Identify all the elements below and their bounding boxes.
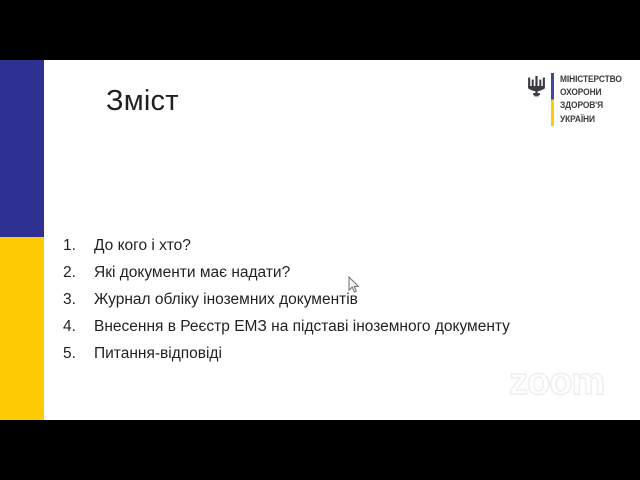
agenda-item: 5. Питання-відповіді xyxy=(63,345,510,372)
letterbox-top xyxy=(0,0,640,60)
agenda-item-number: 4. xyxy=(63,318,94,336)
agenda-item-number: 1. xyxy=(63,237,94,255)
slide-title: Зміст xyxy=(106,86,179,118)
accent-band-yellow xyxy=(0,237,44,420)
logo-line: ЗДОРОВ'Я xyxy=(560,99,622,112)
agenda-item-label: До кого і хто? xyxy=(94,237,191,255)
agenda-item-label: Внесення в Реєстр ЕМЗ на підставі інозем… xyxy=(94,318,510,336)
logo-line: МІНІСТЕРСТВО xyxy=(560,73,622,86)
letterbox-bottom xyxy=(0,420,640,480)
agenda-item-label: Журнал обліку іноземних документів xyxy=(94,291,358,309)
logo-divider xyxy=(551,73,554,126)
logo-line: ОХОРОНИ xyxy=(560,86,622,99)
logo-text: МІНІСТЕРСТВО ОХОРОНИ ЗДОРОВ'Я УКРАЇНИ xyxy=(560,73,626,126)
agenda-item: 2. Які документи має надати? xyxy=(63,264,510,291)
logo-line: УКРАЇНИ xyxy=(560,113,622,126)
zoom-watermark: zoom xyxy=(509,363,604,401)
agenda-item-number: 2. xyxy=(63,264,94,282)
presentation-slide: Зміст МІНІСТЕРСТВО ОХОРОНИ ЗДОРОВ'Я xyxy=(0,60,640,420)
agenda-item: 1. До кого і хто? xyxy=(63,237,510,264)
agenda-item-label: Які документи має надати? xyxy=(94,264,290,282)
agenda-item-number: 5. xyxy=(63,345,94,363)
tryzub-icon xyxy=(527,75,546,97)
agenda-list: 1. До кого і хто? 2. Які документи має н… xyxy=(63,237,510,372)
agenda-item: 4. Внесення в Реєстр ЕМЗ на підставі іно… xyxy=(63,318,510,345)
video-viewport: Зміст МІНІСТЕРСТВО ОХОРОНИ ЗДОРОВ'Я xyxy=(0,0,640,480)
agenda-item-number: 3. xyxy=(63,291,94,309)
agenda-item: 3. Журнал обліку іноземних документів xyxy=(63,291,510,318)
slide-accent-bar xyxy=(0,60,44,420)
ministry-of-health-logo: МІНІСТЕРСТВО ОХОРОНИ ЗДОРОВ'Я УКРАЇНИ xyxy=(527,73,626,131)
accent-band-blue xyxy=(0,60,44,237)
agenda-item-label: Питання-відповіді xyxy=(94,345,222,363)
